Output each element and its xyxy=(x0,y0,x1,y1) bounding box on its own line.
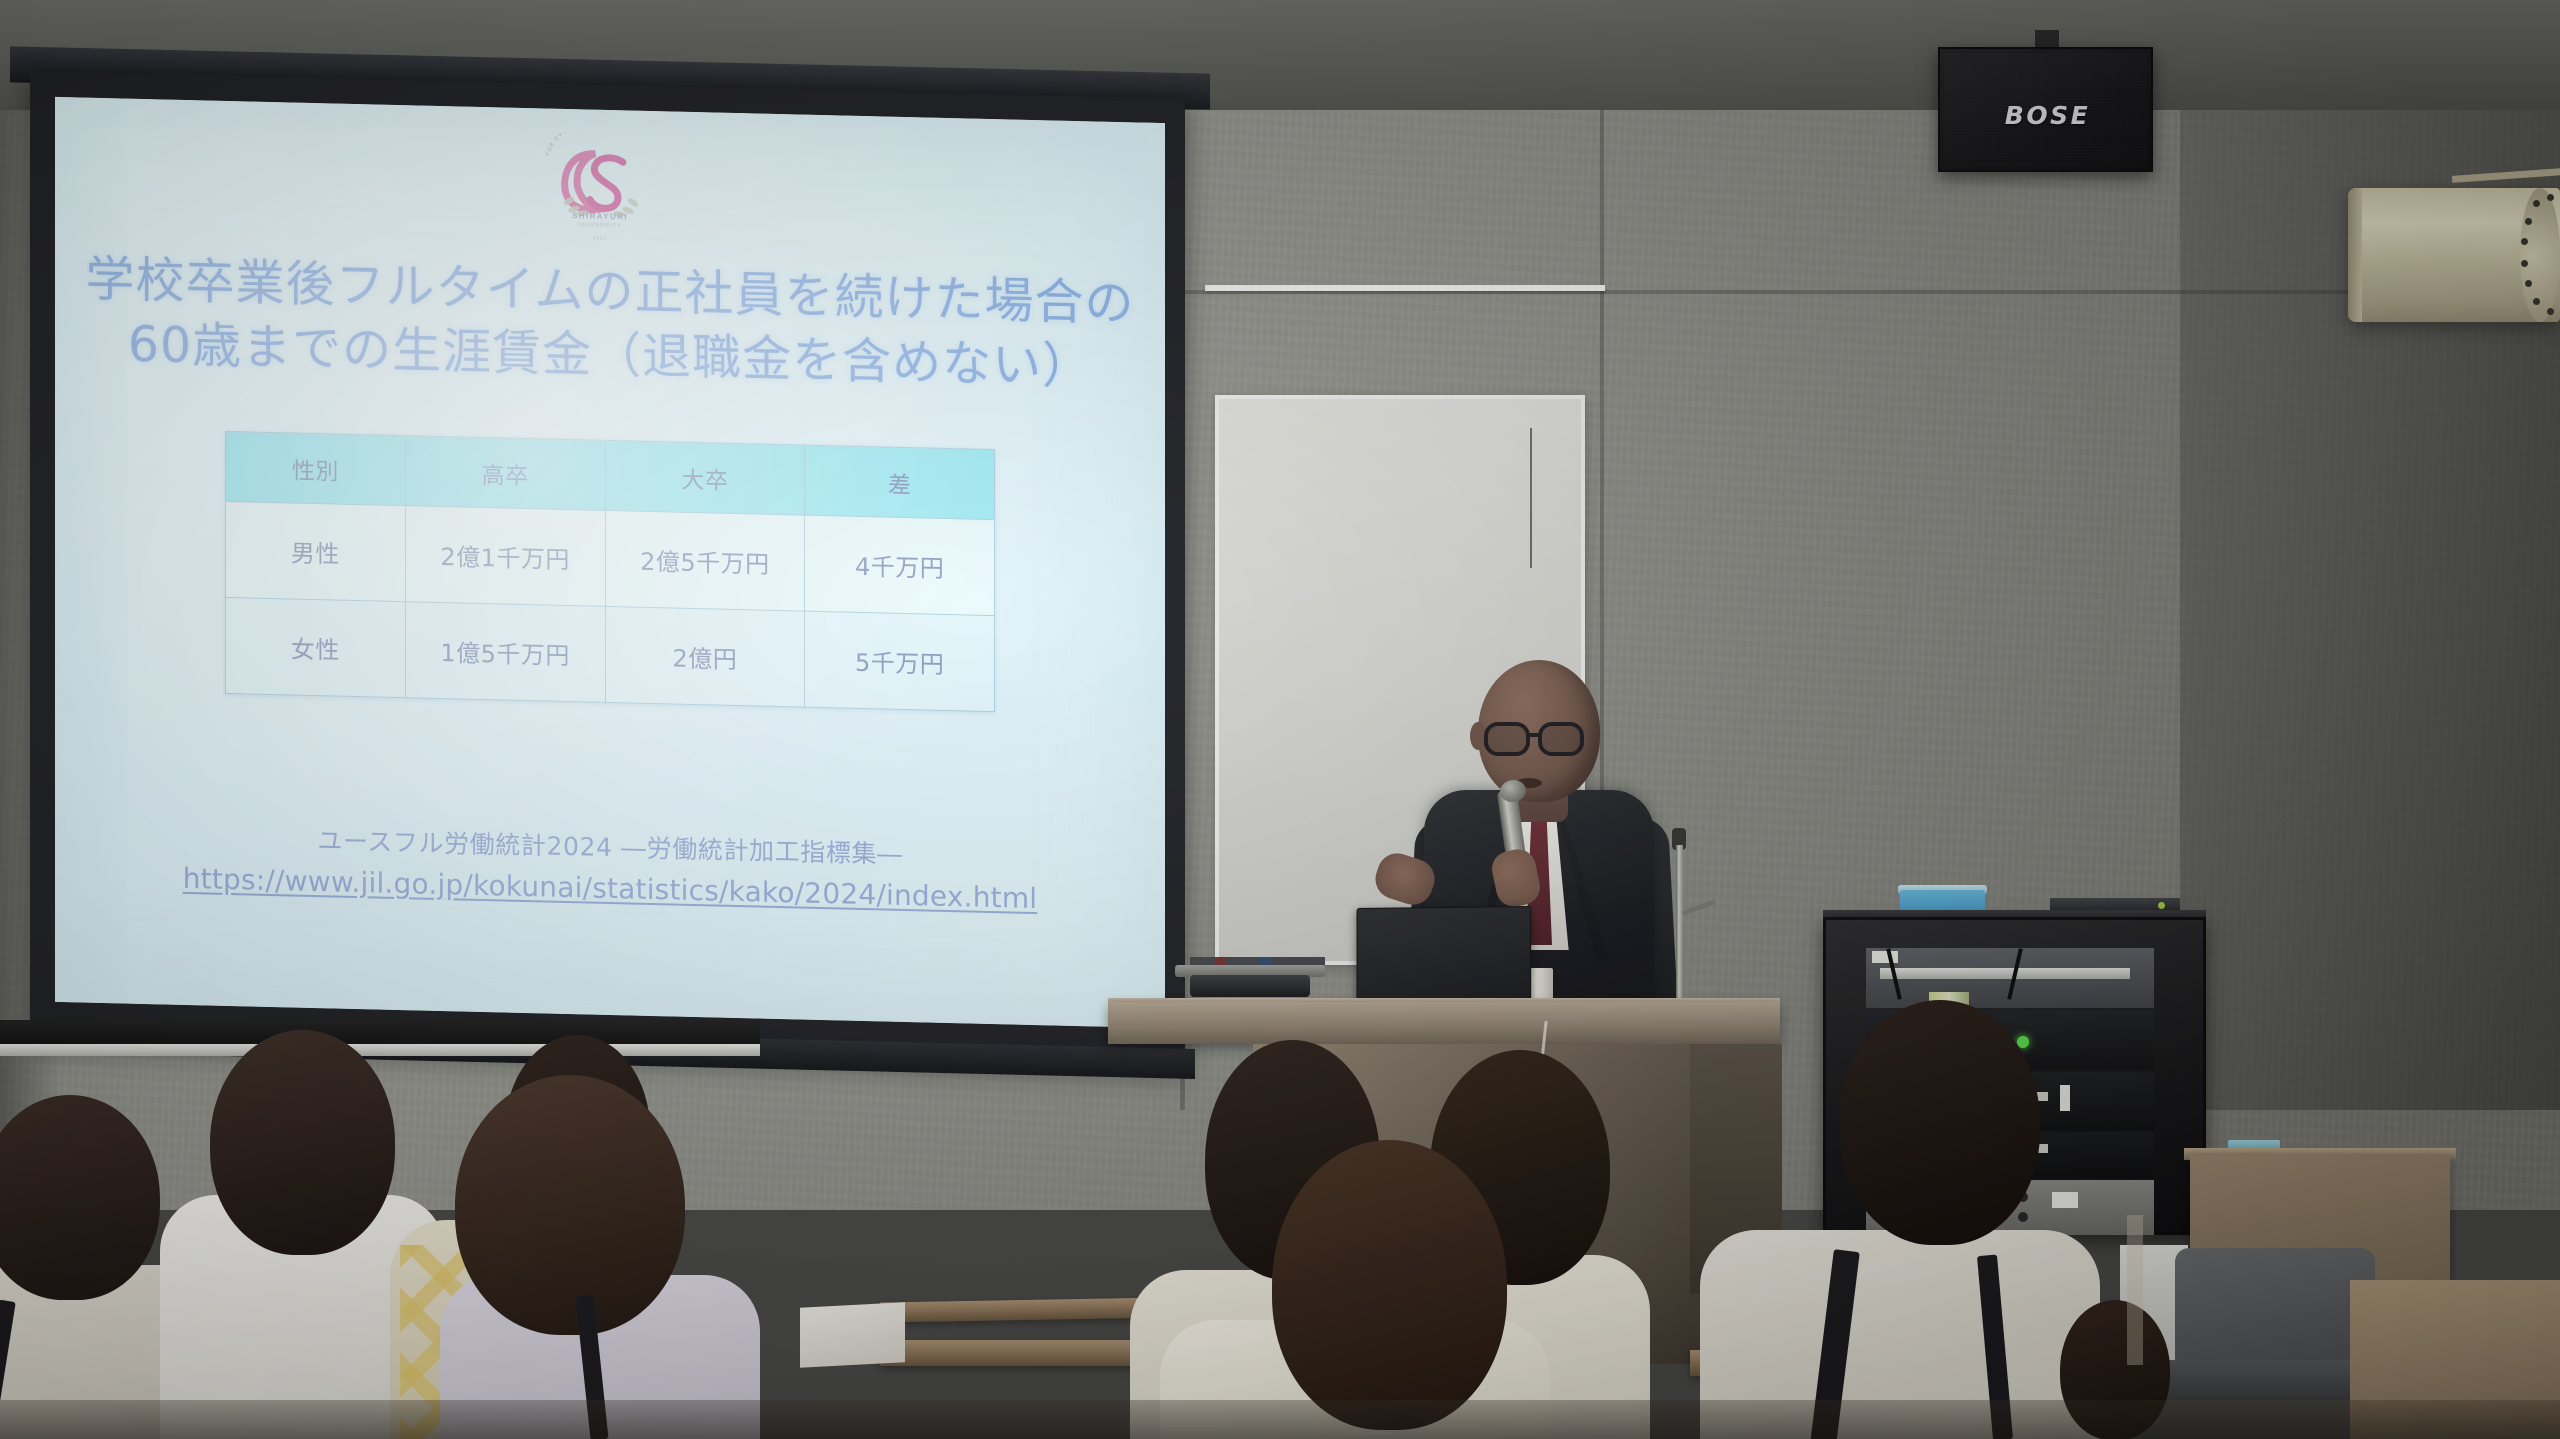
bench-white-box xyxy=(800,1302,905,1368)
projection-screen-surface: FOR EVER MY FLOWER SH xyxy=(55,97,1165,1028)
desk-control-strip xyxy=(1190,957,1325,965)
rack-unit-label xyxy=(1872,951,1898,963)
cell-female-difference: 5千万円 xyxy=(805,611,995,711)
audience-head xyxy=(1840,1000,2040,1245)
cell-male-university: 2億5千万円 xyxy=(605,510,805,611)
logo-monogram-cs-icon xyxy=(555,147,647,217)
table-row: 男性 2億1千万円 2億5千万円 4千万円 xyxy=(226,501,995,615)
table-body: 男性 2億1千万円 2億5千万円 4千万円 女性 1億5千万円 2億円 5千万円 xyxy=(226,501,995,711)
presenter-glasses-left-lens xyxy=(1484,722,1530,756)
lecture-hall-photo: BOSE FOR EVER MY FLOWER xyxy=(0,0,2560,1439)
bench-highlight xyxy=(2127,1215,2143,1365)
floor-shadow xyxy=(0,1400,2560,1439)
rack-top-device-led xyxy=(2158,902,2165,909)
whiteboard-rail xyxy=(1205,285,1605,291)
rack-unit-slot xyxy=(1880,968,2130,979)
column-header-gender: 性別 xyxy=(226,431,406,505)
bench-desk xyxy=(880,1297,1170,1322)
rack-controller-label xyxy=(2052,1192,2078,1208)
presentation-slide: FOR EVER MY FLOWER SH xyxy=(55,97,1165,1028)
rack-controller-knob-lower[interactable] xyxy=(2018,1212,2028,1222)
audience-head xyxy=(210,1030,395,1255)
column-header-highschool: 高卒 xyxy=(405,436,605,511)
column-header-university: 大卒 xyxy=(605,440,805,515)
cell-male-highschool: 2億1千万円 xyxy=(405,506,605,607)
logo-subtitle: UNIVERSITY xyxy=(535,221,665,230)
rack-mixer-fader[interactable] xyxy=(2060,1085,2070,1111)
university-logo: FOR EVER MY FLOWER SH xyxy=(535,130,665,248)
cell-gender-female: 女性 xyxy=(226,597,406,697)
presenter-glasses-right-lens xyxy=(1538,722,1584,756)
audience-head xyxy=(1272,1140,1507,1430)
column-header-difference: 差 xyxy=(805,445,995,519)
cell-female-university: 2億円 xyxy=(605,606,805,707)
duct-edge xyxy=(2348,188,2362,322)
office-chair-back xyxy=(2175,1248,2375,1368)
cell-female-highschool: 1億5千万円 xyxy=(405,602,605,703)
duct-bolts xyxy=(2519,190,2560,320)
presenter-glasses-bridge xyxy=(1528,733,1542,737)
bose-speaker: BOSE xyxy=(1938,47,2153,172)
table-row: 女性 1億5千万円 2億円 5千万円 xyxy=(226,597,995,711)
logo-year: 1881 xyxy=(535,234,665,243)
wage-comparison-table: 性別 高卒 大卒 差 男性 2億1千万円 2億5千万円 4千万円 女性 xyxy=(225,431,995,712)
audience-head xyxy=(455,1075,685,1335)
bose-logo-text: BOSE xyxy=(1940,101,2155,130)
cell-gender-male: 男性 xyxy=(226,501,406,601)
podium-surface xyxy=(1108,1002,1780,1044)
blackboard-chalk-rail xyxy=(0,1044,760,1056)
slide-title: 学校卒業後フルタイムの正社員を続けた場合の 60歳までの生涯賃金（退職金を含めな… xyxy=(55,247,1165,401)
blackboard-lower-edge xyxy=(0,1020,760,1044)
desk-remote-control xyxy=(1190,975,1310,997)
logo-name: SHIRAYURI xyxy=(535,210,665,222)
cell-male-difference: 4千万円 xyxy=(805,515,995,615)
whiteboard-marker xyxy=(1530,428,1532,568)
